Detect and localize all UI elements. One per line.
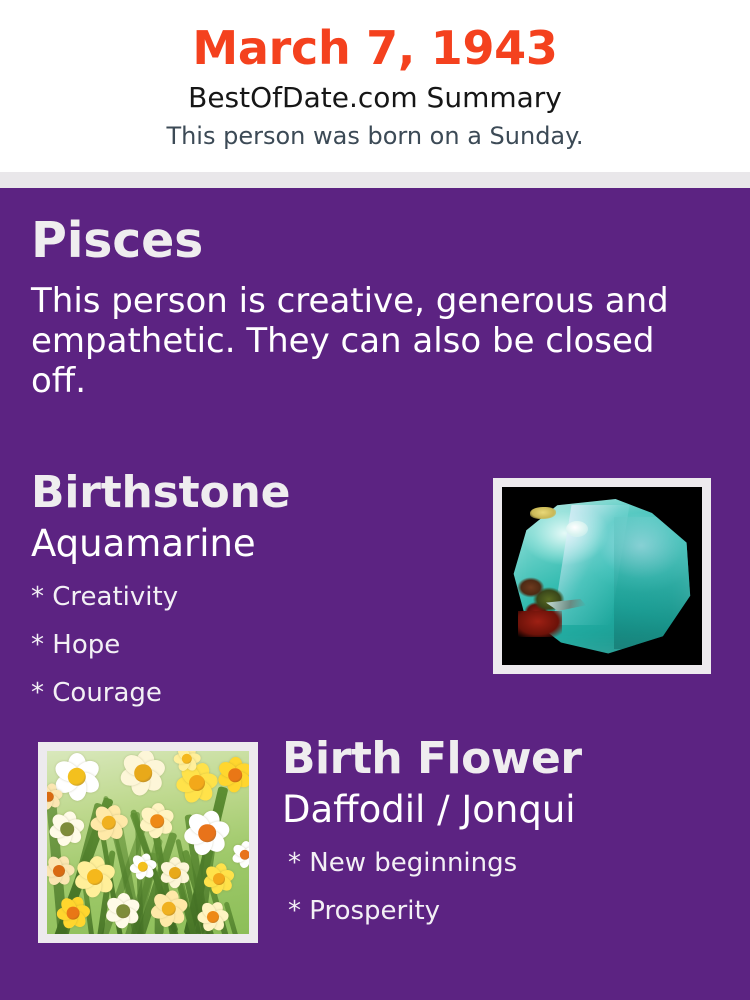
birth-flower-heading: Birth Flower	[282, 737, 732, 781]
birth-flower-section: Birth Flower Daffodil / Jonqui * New beg…	[282, 737, 732, 924]
zodiac-description: This person is creative, generous and em…	[31, 265, 703, 401]
daffodil-bloom-icon	[91, 805, 127, 841]
list-item: * New beginnings	[288, 828, 732, 876]
corona-icon	[150, 814, 164, 828]
header-divider	[0, 172, 750, 188]
corona-icon	[213, 873, 225, 885]
birthstone-trait-list: * Creativity * Hope * Courage	[31, 562, 471, 706]
corona-icon	[228, 768, 242, 782]
list-item: * Prosperity	[288, 876, 732, 924]
birth-flower-trait-list: * New beginnings * Prosperity	[282, 828, 732, 924]
daffodil-bloom-icon	[160, 858, 190, 888]
corona-icon	[207, 911, 219, 923]
daffodil-bloom-icon	[121, 751, 165, 795]
corona-icon	[67, 907, 80, 920]
site-name-subtitle: BestOfDate.com Summary	[0, 71, 750, 112]
aquamarine-crystal-image	[502, 487, 702, 665]
crystal-yellow-patch-icon	[530, 507, 556, 519]
daffodil-bloom-icon	[57, 897, 89, 929]
crystal-red-matrix-icon	[518, 611, 562, 637]
zodiac-section: Pisces This person is creative, generous…	[31, 216, 721, 401]
daffodil-bloom-icon	[50, 812, 84, 846]
summary-panel: Pisces This person is creative, generous…	[0, 188, 750, 1000]
birth-flower-name: Daffodil / Jonqui	[282, 781, 732, 828]
corona-icon	[87, 869, 103, 885]
corona-icon	[116, 904, 130, 918]
page-title-date: March 7, 1943	[0, 0, 750, 71]
corona-icon	[134, 764, 152, 782]
birth-flower-image-frame	[38, 742, 258, 943]
daffodil-bloom-icon	[232, 842, 249, 868]
birthstone-name: Aquamarine	[31, 515, 471, 562]
daffodil-field-image	[47, 751, 249, 934]
summary-page: March 7, 1943 BestOfDate.com Summary Thi…	[0, 0, 750, 1000]
corona-icon	[240, 850, 249, 860]
page-header: March 7, 1943 BestOfDate.com Summary Thi…	[0, 0, 750, 172]
birthstone-section: Birthstone Aquamarine * Creativity * Hop…	[31, 471, 471, 706]
daffodil-bloom-icon	[47, 784, 62, 810]
daffodil-bloom-icon	[218, 758, 249, 792]
corona-icon	[53, 865, 65, 877]
list-item: * Creativity	[31, 562, 471, 610]
daffodil-bloom-icon	[75, 857, 115, 897]
birthstone-heading: Birthstone	[31, 471, 471, 515]
birthstone-image-frame	[493, 478, 711, 674]
daffodil-bloom-icon	[198, 902, 228, 932]
daffodil-bloom-icon	[151, 891, 187, 927]
corona-icon	[60, 822, 74, 836]
daffodil-bloom-icon	[47, 856, 74, 886]
daffodil-bloom-icon	[185, 811, 229, 855]
daffodil-bloom-icon	[106, 894, 140, 928]
corona-icon	[189, 775, 205, 791]
zodiac-sign-name: Pisces	[31, 216, 721, 265]
daffodil-bloom-icon	[174, 751, 200, 772]
daffodil-bloom-icon	[140, 804, 174, 838]
day-of-week-note: This person was born on a Sunday.	[0, 112, 750, 148]
list-item: * Hope	[31, 610, 471, 658]
corona-icon	[198, 824, 216, 842]
daffodil-bloom-icon	[130, 854, 156, 880]
corona-icon	[169, 867, 181, 879]
crystal-facet-icon	[614, 517, 692, 649]
daffodil-bloom-icon	[204, 864, 234, 894]
crystal-highlight-icon	[566, 521, 588, 537]
list-item: * Courage	[31, 658, 471, 706]
